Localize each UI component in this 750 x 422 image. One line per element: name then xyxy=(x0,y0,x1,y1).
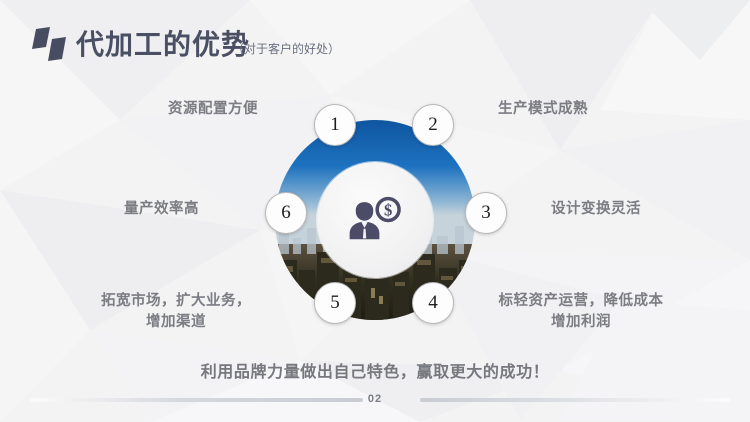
label-production-mode: 生产模式成熟 xyxy=(498,99,588,120)
page-subtitle: （对于客户的好处） xyxy=(232,40,340,57)
label-market-expansion-line-1: 拓宽市场，扩大业务， xyxy=(76,291,276,312)
slide-caption: 利用品牌力量做出自己特色，赢取更大的成功！ xyxy=(0,358,750,382)
badge-4[interactable]: 4 xyxy=(412,282,454,324)
label-mass-production-efficiency: 量产效率高 xyxy=(124,199,199,220)
label-resource-allocation: 资源配置方便 xyxy=(168,99,258,120)
businessman-dollar-icon: $ xyxy=(347,192,403,248)
label-design-flexibility: 设计变换灵活 xyxy=(551,199,641,220)
brand-logo-mark xyxy=(30,27,74,61)
label-asset-light-line-1: 标轻资产运营，降低成本 xyxy=(486,291,676,312)
label-asset-light-line-2: 增加利润 xyxy=(486,312,676,333)
label-asset-light-operation: 标轻资产运营，降低成本 增加利润 xyxy=(486,291,676,333)
label-market-expansion-line-2: 增加渠道 xyxy=(76,312,276,333)
badge-6[interactable]: 6 xyxy=(265,192,307,234)
slide-footer: 02 xyxy=(0,393,750,405)
inner-icon-circle: $ xyxy=(317,162,433,278)
svg-text:$: $ xyxy=(384,201,392,220)
badge-2[interactable]: 2 xyxy=(412,104,454,146)
badge-5[interactable]: 5 xyxy=(314,282,356,324)
page-number: 02 xyxy=(0,393,750,405)
page-title: 代加工的优势 xyxy=(76,28,250,62)
label-market-expansion: 拓宽市场，扩大业务， 增加渠道 xyxy=(76,291,276,333)
badge-3[interactable]: 3 xyxy=(465,192,507,234)
slide-canvas: 代加工的优势 （对于客户的好处） xyxy=(0,0,750,422)
badge-1[interactable]: 1 xyxy=(314,104,356,146)
